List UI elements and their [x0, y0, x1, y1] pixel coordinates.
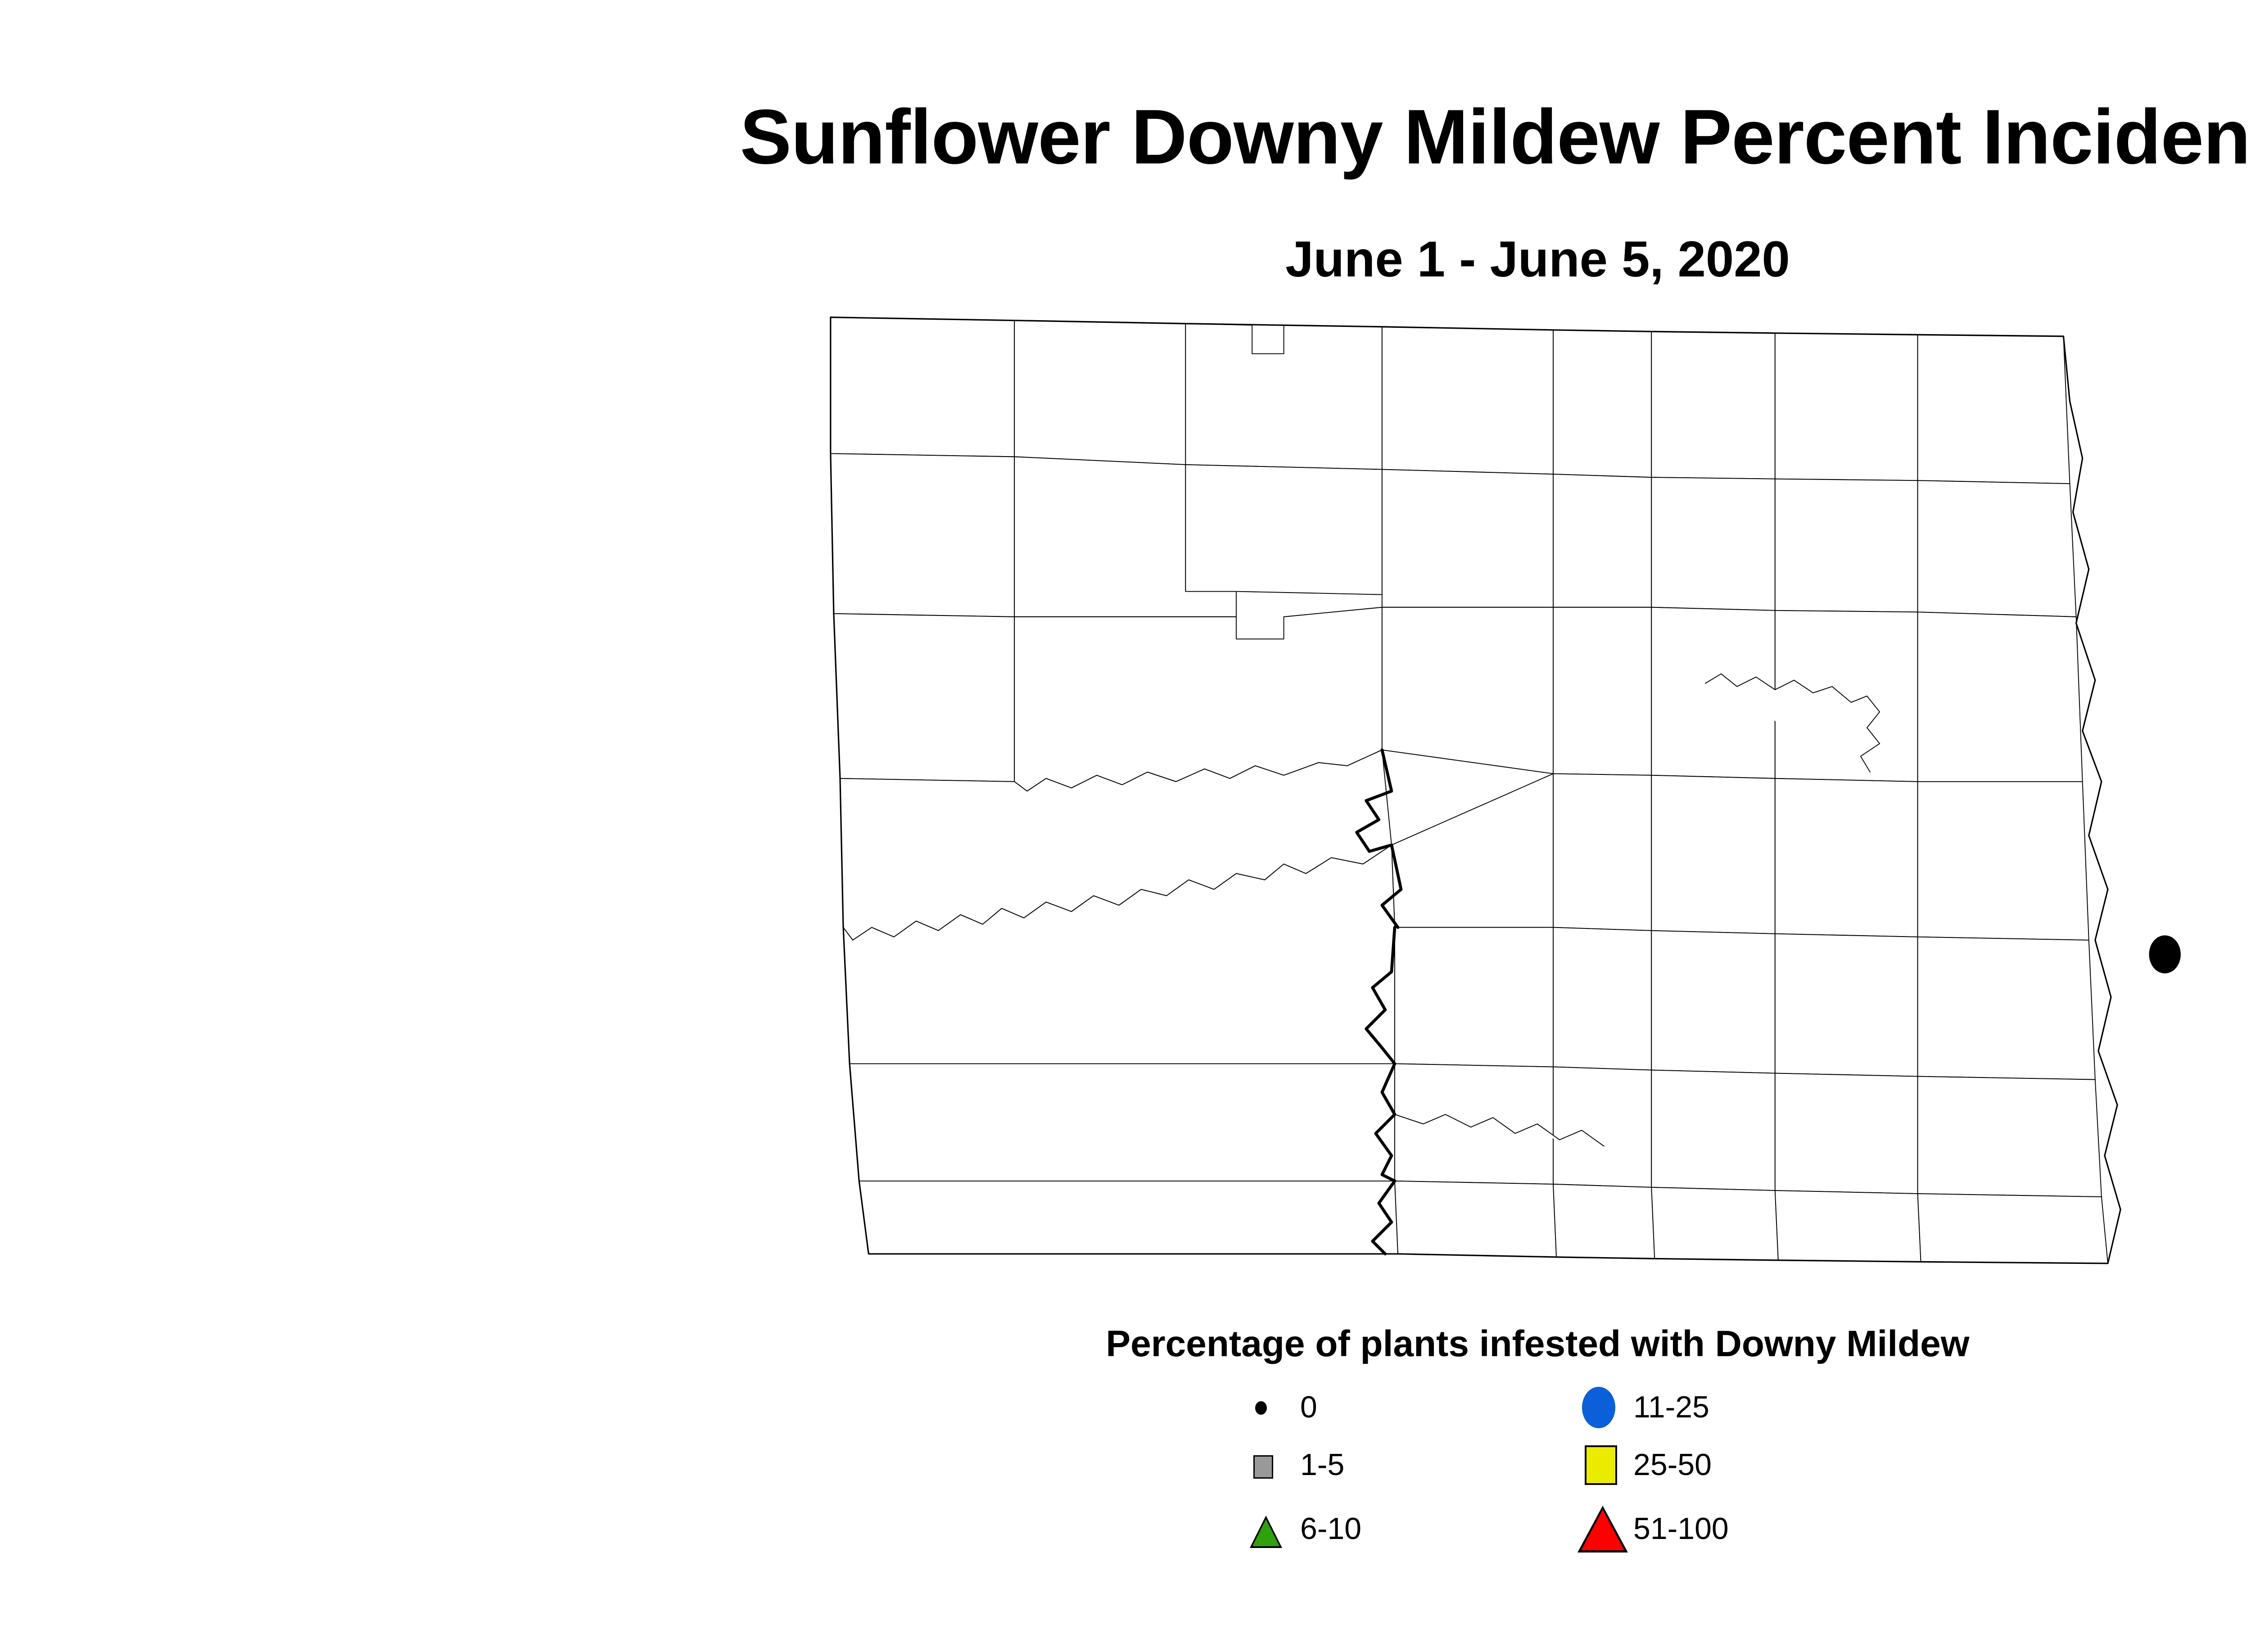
county-walsh-n: [1918, 480, 2076, 617]
legend: 0 1-5 6-10 11-25: [1243, 1382, 1873, 1607]
circle-icon: [1582, 1387, 1615, 1428]
legend-symbol-square-gray: [1243, 1440, 1297, 1489]
county-pierce-n: [1553, 474, 1651, 607]
legend-column-right: 11-25 25-50 51-100: [1576, 1382, 1828, 1607]
triangle-icon: [1250, 1516, 1282, 1548]
county-wells: [1651, 775, 1775, 934]
page-subtitle: June 1 - June 5, 2020: [0, 234, 2251, 285]
legend-symbol-circle-black: [1243, 1382, 1297, 1432]
triangle-icon: [1578, 1506, 1628, 1552]
county-grant-sioux: [1395, 1181, 1556, 1257]
legend-item-51-100: 51-100: [1576, 1504, 1828, 1553]
county-burleigh-s: [1553, 1067, 1651, 1187]
square-icon: [1585, 1445, 1617, 1485]
county-mchenry: [1382, 607, 1553, 774]
north-dakota-map: [761, 306, 2251, 1270]
legend-item-0: 0: [1243, 1382, 1495, 1432]
legend-item-25-50: 25-50: [1576, 1440, 1828, 1489]
legend-label: 6-10: [1300, 1513, 1361, 1544]
circle-icon: [1255, 1401, 1267, 1415]
square-icon: [1253, 1455, 1273, 1479]
county-divide: [831, 317, 1014, 457]
county-walsh: [1918, 612, 2083, 782]
county-sheridan: [1553, 774, 1651, 930]
survey-point-cass: [2149, 935, 2181, 973]
legend-label: 25-50: [1633, 1449, 1712, 1480]
county-burleigh-n: [1553, 928, 1651, 1070]
county-ramsey-n: [1775, 479, 1918, 612]
county-rolette: [1553, 330, 1651, 477]
county-logan-lamoure: [1651, 1070, 1775, 1191]
county-traill: [1918, 937, 2095, 1080]
legend-title: Percentage of plants infested with Downy…: [0, 1323, 2251, 1365]
county-cavalier: [1775, 333, 1918, 480]
county-mcintosh: [1651, 1187, 1778, 1260]
county-mchenry-n: [1382, 470, 1553, 607]
county-renville: [1185, 324, 1382, 470]
legend-label: 11-25: [1633, 1392, 1709, 1422]
legend-item-6-10: 6-10: [1243, 1504, 1495, 1553]
legend-symbol-triangle-red: [1576, 1504, 1630, 1553]
county-emmons: [1553, 1184, 1654, 1258]
legend-symbol-circle-blue: [1576, 1382, 1630, 1432]
county-ward-n: [1185, 465, 1382, 595]
county-towner: [1651, 331, 1775, 479]
county-morton: [1395, 1064, 1553, 1184]
county-mclean: [1392, 774, 1553, 927]
page-title: Sunflower Downy Mildew Percent Incidence: [0, 98, 2251, 176]
legend-label: 1-5: [1300, 1449, 1344, 1480]
county-benson-n: [1651, 477, 1775, 611]
county-pierce: [1553, 607, 1651, 775]
county-billings-stark: [850, 1064, 1395, 1181]
county-kidder: [1651, 931, 1775, 1073]
county-cass: [1918, 1077, 2102, 1197]
county-oliver-mercer: [1395, 928, 1553, 1067]
county-grand-forks: [1918, 782, 2089, 940]
county-williams-s: [834, 614, 1014, 782]
legend-item-1-5: 1-5: [1243, 1440, 1495, 1489]
county-barnes: [1775, 1073, 1918, 1194]
county-boundaries: [831, 317, 2108, 1263]
county-eddy-nelson: [1775, 778, 1918, 937]
legend-label: 51-100: [1633, 1513, 1729, 1544]
county-bottineau: [1382, 327, 1553, 474]
county-bowman-adams: [859, 1181, 1398, 1254]
county-richland: [1918, 1194, 2108, 1263]
legend-label: 0: [1300, 1392, 1317, 1422]
county-pembina-n: [1918, 335, 2070, 484]
county-burke: [1014, 321, 1185, 465]
legend-symbol-triangle-green: [1243, 1504, 1297, 1553]
legend-symbol-square-yellow: [1576, 1440, 1630, 1489]
county-williams: [831, 453, 1014, 617]
county-dickey: [1775, 1190, 1921, 1262]
county-stutsman: [1775, 934, 1918, 1077]
nd-county-map-svg: [761, 306, 2251, 1270]
legend-item-11-25: 11-25: [1576, 1382, 1828, 1432]
figure-canvas: Sunflower Downy Mildew Percent Incidence…: [0, 0, 2251, 1652]
legend-column-left: 0 1-5 6-10: [1243, 1382, 1495, 1607]
